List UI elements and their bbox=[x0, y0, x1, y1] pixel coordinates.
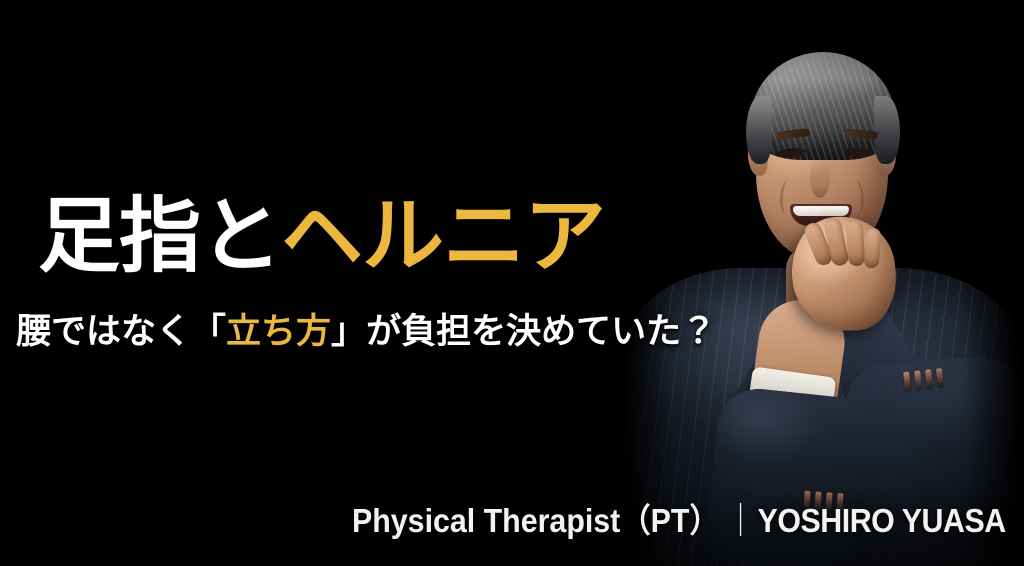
credit-name: YOSHIRO YUASA bbox=[758, 502, 1006, 539]
subheadline-highlight: 立ち方 bbox=[226, 312, 331, 351]
subheadline-after: が負担を決めていた？ bbox=[366, 312, 716, 351]
credit-separator: ｜ bbox=[720, 504, 758, 537]
teeth bbox=[793, 206, 849, 216]
credit-line: Physical Therapist（PT）｜YOSHIRO YUASA bbox=[352, 504, 1006, 537]
finger-ring bbox=[845, 219, 865, 266]
headline: 足指とヘルニア bbox=[38, 196, 605, 278]
subheadline-before: 腰ではなく bbox=[16, 312, 191, 351]
subheadline-bracket-close: 」 bbox=[331, 312, 366, 351]
nose bbox=[810, 158, 830, 198]
subheadline: 腰ではなく「立ち方」が負担を決めていた？ bbox=[16, 314, 716, 349]
headline-part-gold: ヘルニア bbox=[281, 191, 605, 282]
portrait-photo bbox=[604, 0, 1024, 566]
thumbnail-canvas: 足指とヘルニア 腰ではなく「立ち方」が負担を決めていた？ Physical Th… bbox=[0, 0, 1024, 566]
hair-sideburn-left bbox=[746, 96, 772, 164]
finger-little bbox=[864, 228, 882, 269]
hair-sideburn-right bbox=[874, 96, 900, 164]
subheadline-bracket-open: 「 bbox=[191, 312, 226, 351]
credit-role: Physical Therapist（PT） bbox=[352, 502, 720, 539]
headline-part-white: 足指と bbox=[38, 191, 281, 282]
